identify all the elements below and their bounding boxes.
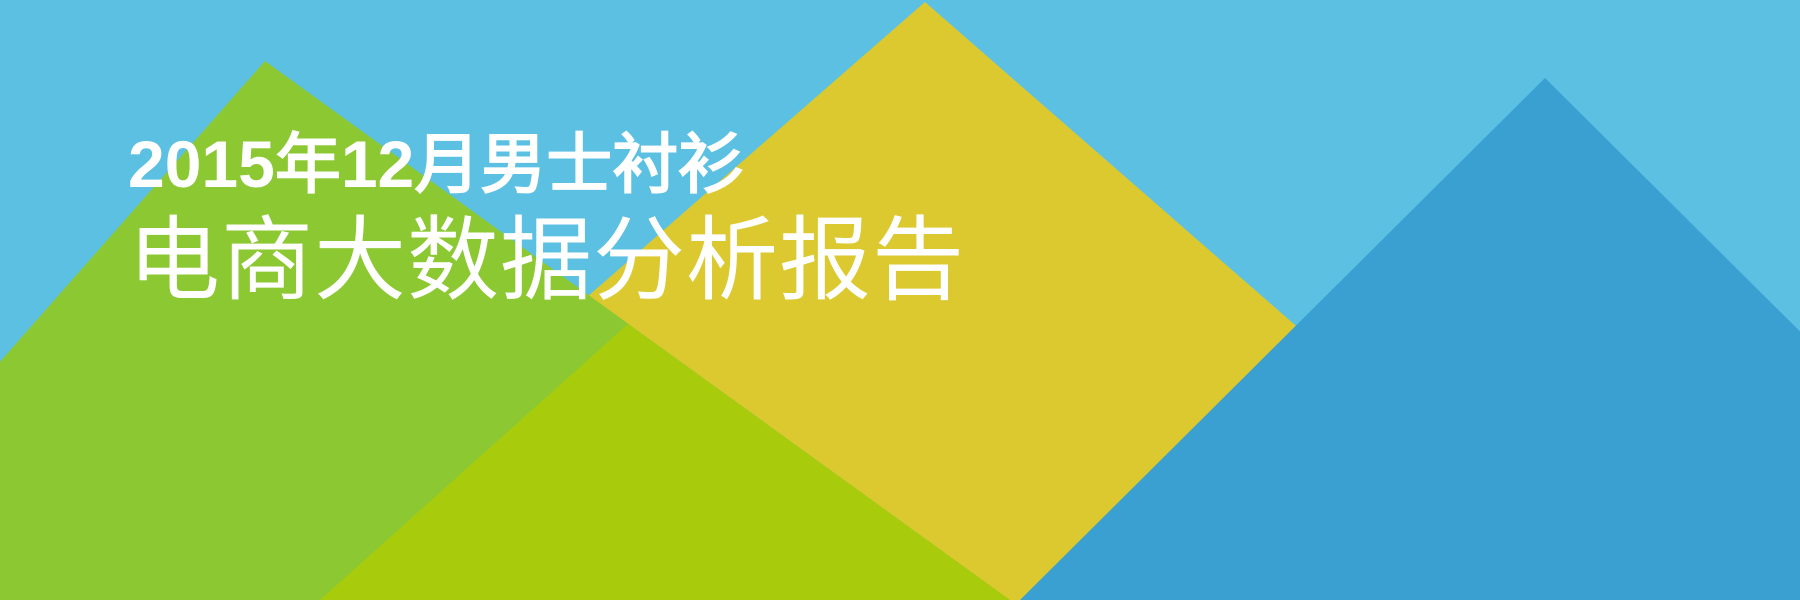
title-line-secondary: 电商大数据分析报告 <box>128 206 965 316</box>
title-line-primary: 2015年12月男士衬衫 <box>128 126 965 202</box>
page-title: 2015年12月男士衬衫 电商大数据分析报告 <box>128 126 965 316</box>
report-cover-banner: 2015年12月男士衬衫 电商大数据分析报告 <box>0 0 1800 600</box>
